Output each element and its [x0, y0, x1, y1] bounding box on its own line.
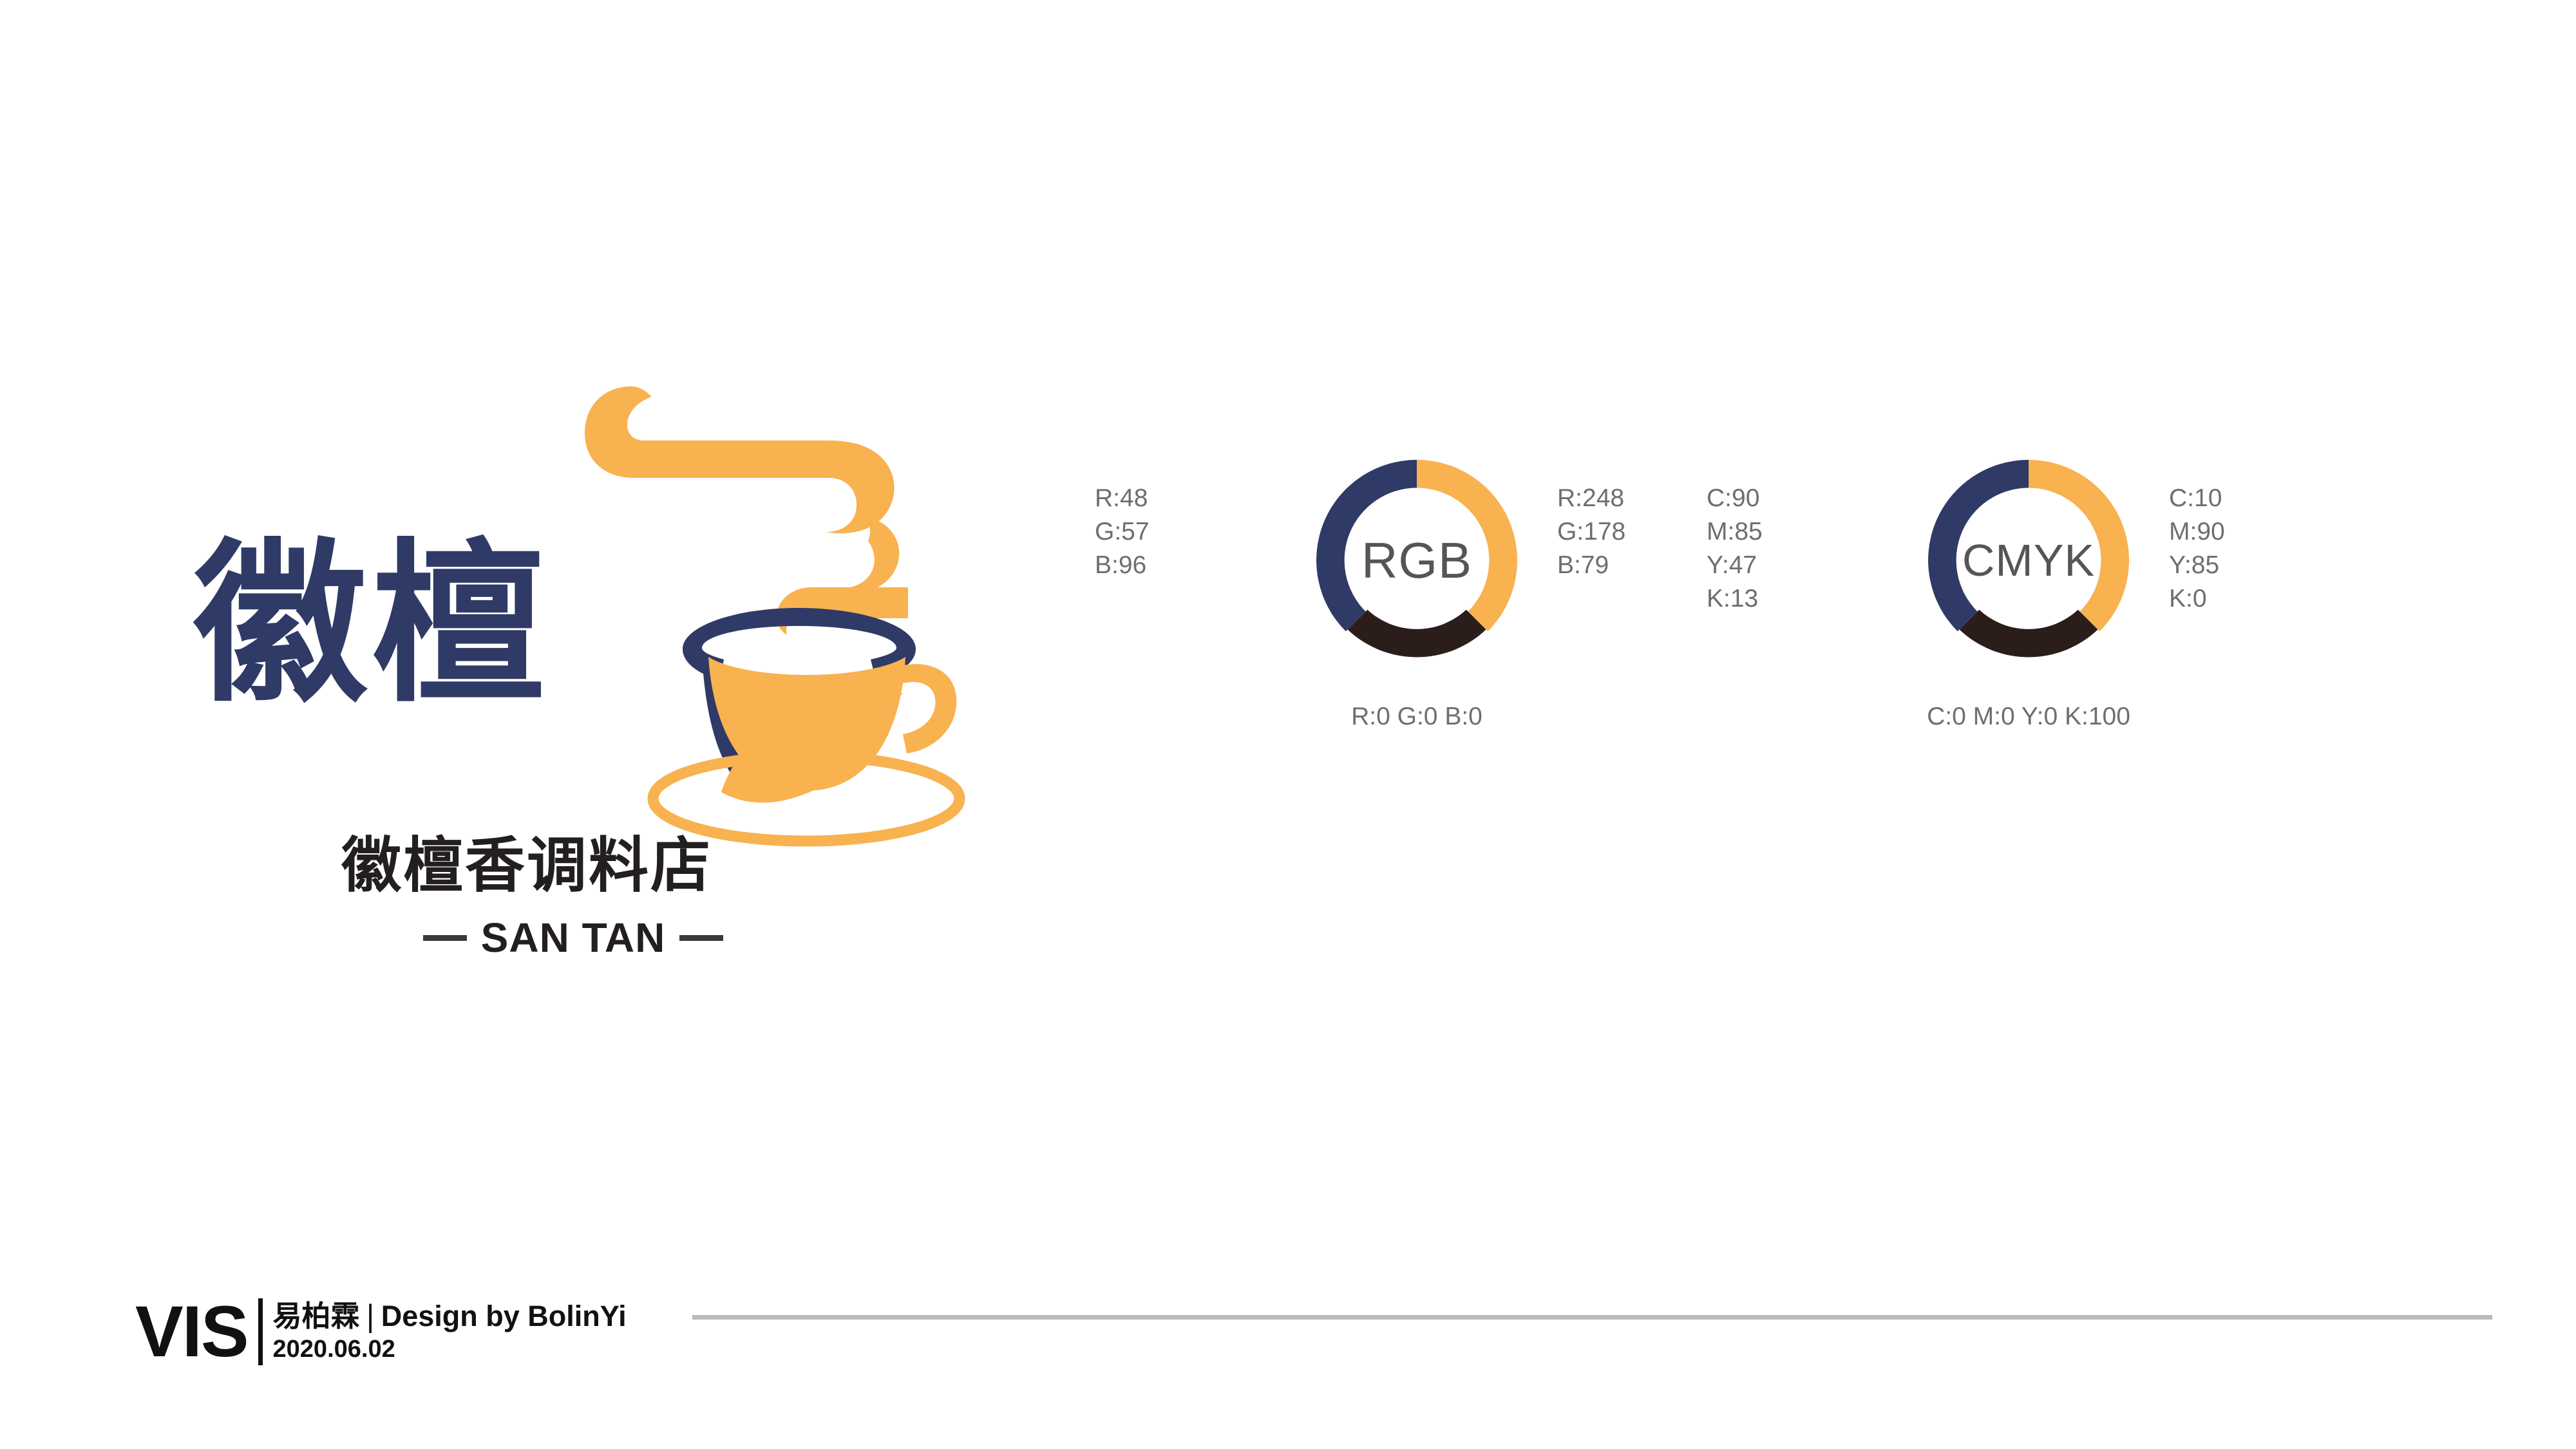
cmyk-orange-line-4: K:0	[2169, 582, 2362, 616]
cmyk-label-navy: C:90 M:85 Y:47 K:13	[1707, 482, 1900, 616]
footer-credit-line: 易柏霖 | Design by BolinYi	[273, 1298, 627, 1334]
footer-pipe-separator: |	[366, 1298, 375, 1334]
cmyk-navy-line-1: C:90	[1707, 482, 1900, 515]
cmyk-navy-line-4: K:13	[1707, 582, 1900, 616]
rgb-slice-black	[1348, 610, 1486, 658]
cmyk-label-orange: C:10 M:90 Y:85 K:0	[2169, 482, 2362, 616]
cmyk-slice-orange	[2029, 460, 2129, 631]
cmyk-donut-chart: CMYK	[1913, 444, 2145, 676]
footer-signature: VIS 易柏霖 | Design by BolinYi 2020.06.02	[135, 1296, 627, 1368]
cmyk-orange-line-1: C:10	[2169, 482, 2362, 515]
dash-left	[423, 935, 467, 941]
logo-subtitle-english-row: SAN TAN	[341, 916, 805, 960]
cmyk-orange-line-3: Y:85	[2169, 549, 2362, 582]
brand-logo-block: 徽檀 徽檀香调料店 SAN TAN	[193, 348, 1043, 998]
rgb-donut-chart: RGB	[1301, 444, 1533, 676]
rgb-label-navy: R:48 G:57 B:96 R:48 G:57 B:96	[1095, 482, 1288, 582]
rgb-slice-navy	[1316, 460, 1417, 631]
cmyk-orange-line-2: M:90	[2169, 515, 2362, 549]
rgb-navy-line-2: G:57	[1095, 515, 1288, 549]
cmyk-donut-svg	[1913, 444, 2145, 676]
rgb-navy-line-1: R:48	[1095, 482, 1288, 515]
cmyk-slice-black	[1960, 610, 2098, 658]
footer-designer-credit: Design by BolinYi	[381, 1298, 627, 1334]
footer-author-chinese: 易柏霖	[273, 1298, 360, 1334]
rgb-slice-orange	[1417, 460, 1517, 631]
logo-subtitle-english: SAN TAN	[481, 916, 666, 960]
dash-right	[679, 935, 723, 941]
footer-vis-label: VIS	[135, 1296, 248, 1368]
logo-subtitle-chinese: 徽檀香调料店	[341, 831, 921, 900]
footer-text-column: 易柏霖 | Design by BolinYi 2020.06.02	[273, 1296, 627, 1364]
footer-vertical-bar	[258, 1298, 263, 1365]
cmyk-slice-navy	[1928, 460, 2029, 631]
steam-upper-swoosh	[585, 386, 895, 533]
page-footer: VIS 易柏霖 | Design by BolinYi 2020.06.02	[0, 1282, 2576, 1449]
cmyk-navy-line-2: M:85	[1707, 515, 1900, 549]
rgb-navy-line-3: B:96	[1095, 549, 1288, 582]
cup-handle	[900, 664, 956, 753]
logo-wordmark-chinese: 徽檀	[193, 528, 773, 721]
color-swatch-rgb: R:48 G:57 B:96 R:48 G:57 B:96 RGB R:248 …	[1095, 444, 1739, 1024]
cmyk-navy-line-3: Y:47	[1707, 549, 1900, 582]
cmyk-label-black: C:0 M:0 Y:0 K:100	[1790, 701, 2267, 733]
rgb-label-black: R:0 G:0 B:0	[1179, 701, 1655, 733]
color-swatch-cmyk: C:90 M:85 Y:47 K:13 CMYK C:10 M:90 Y:85 …	[1707, 444, 2351, 1024]
footer-date: 2020.06.02	[273, 1334, 627, 1364]
footer-divider-rule	[692, 1315, 2492, 1320]
rgb-donut-svg	[1301, 444, 1533, 676]
